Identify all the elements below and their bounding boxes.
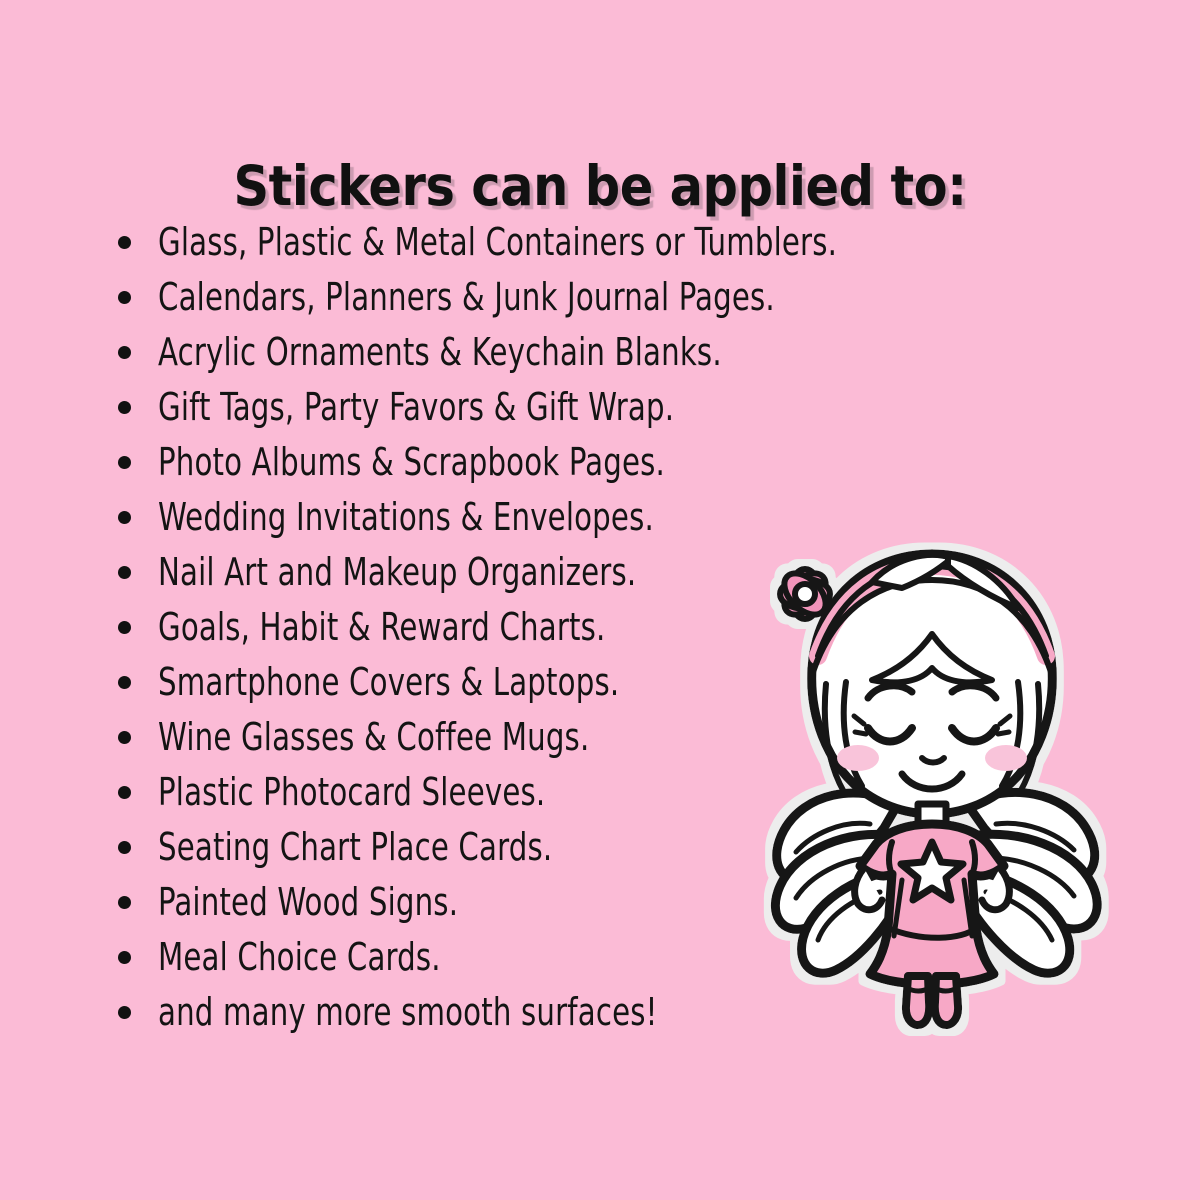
- list-item-label: Meal Choice Cards.: [158, 936, 441, 978]
- bullet-dot-icon: [118, 401, 131, 414]
- bullet-dot-icon: [118, 511, 131, 524]
- list-item-label: Gift Tags, Party Favors & Gift Wrap.: [158, 386, 674, 428]
- fairy-head-icon: [777, 554, 1053, 814]
- bullet-dot-icon: [118, 841, 131, 854]
- bullet-dot-icon: [118, 621, 131, 634]
- bullet-dot-icon: [118, 291, 131, 304]
- list-item: Calendars, Planners & Junk Journal Pages…: [108, 269, 1068, 324]
- sticker-info-card: Stickers can be applied to: Glass, Plast…: [0, 0, 1200, 1200]
- bullet-dot-icon: [118, 1006, 131, 1019]
- page-title: Stickers can be applied to:: [60, 155, 1140, 217]
- list-item: Glass, Plastic & Metal Containers or Tum…: [108, 214, 1068, 269]
- bullet-dot-icon: [118, 951, 131, 964]
- list-item-label: Seating Chart Place Cards.: [158, 826, 552, 868]
- list-item-label: Plastic Photocard Sleeves.: [158, 771, 545, 813]
- bullet-dot-icon: [118, 786, 131, 799]
- list-item: Acrylic Ornaments & Keychain Blanks.: [108, 324, 1068, 379]
- list-item-label: Wine Glasses & Coffee Mugs.: [158, 716, 589, 758]
- list-item-label: Goals, Habit & Reward Charts.: [158, 606, 605, 648]
- list-item-label: Smartphone Covers & Laptops.: [158, 661, 619, 703]
- list-item-label: Nail Art and Makeup Organizers.: [158, 551, 636, 593]
- list-item-label: Painted Wood Signs.: [158, 881, 458, 923]
- bullet-dot-icon: [118, 346, 131, 359]
- fairy-girl-sticker-illustration: [752, 536, 1112, 1036]
- list-item-label: Calendars, Planners & Junk Journal Pages…: [158, 276, 775, 318]
- list-item: Gift Tags, Party Favors & Gift Wrap.: [108, 379, 1068, 434]
- bullet-dot-icon: [118, 566, 131, 579]
- bullet-dot-icon: [118, 896, 131, 909]
- bullet-dot-icon: [118, 236, 131, 249]
- bullet-dot-icon: [118, 456, 131, 469]
- list-item-label: Acrylic Ornaments & Keychain Blanks.: [158, 331, 722, 373]
- list-item-label: Glass, Plastic & Metal Containers or Tum…: [158, 221, 837, 263]
- list-item-label: and many more smooth surfaces!: [158, 991, 658, 1033]
- bullet-dot-icon: [118, 676, 131, 689]
- fairy-shoes-icon: [906, 976, 958, 1025]
- list-item-label: Wedding Invitations & Envelopes.: [158, 496, 654, 538]
- bullet-dot-icon: [118, 731, 131, 744]
- list-item-label: Photo Albums & Scrapbook Pages.: [158, 441, 665, 483]
- list-item: Photo Albums & Scrapbook Pages.: [108, 434, 1068, 489]
